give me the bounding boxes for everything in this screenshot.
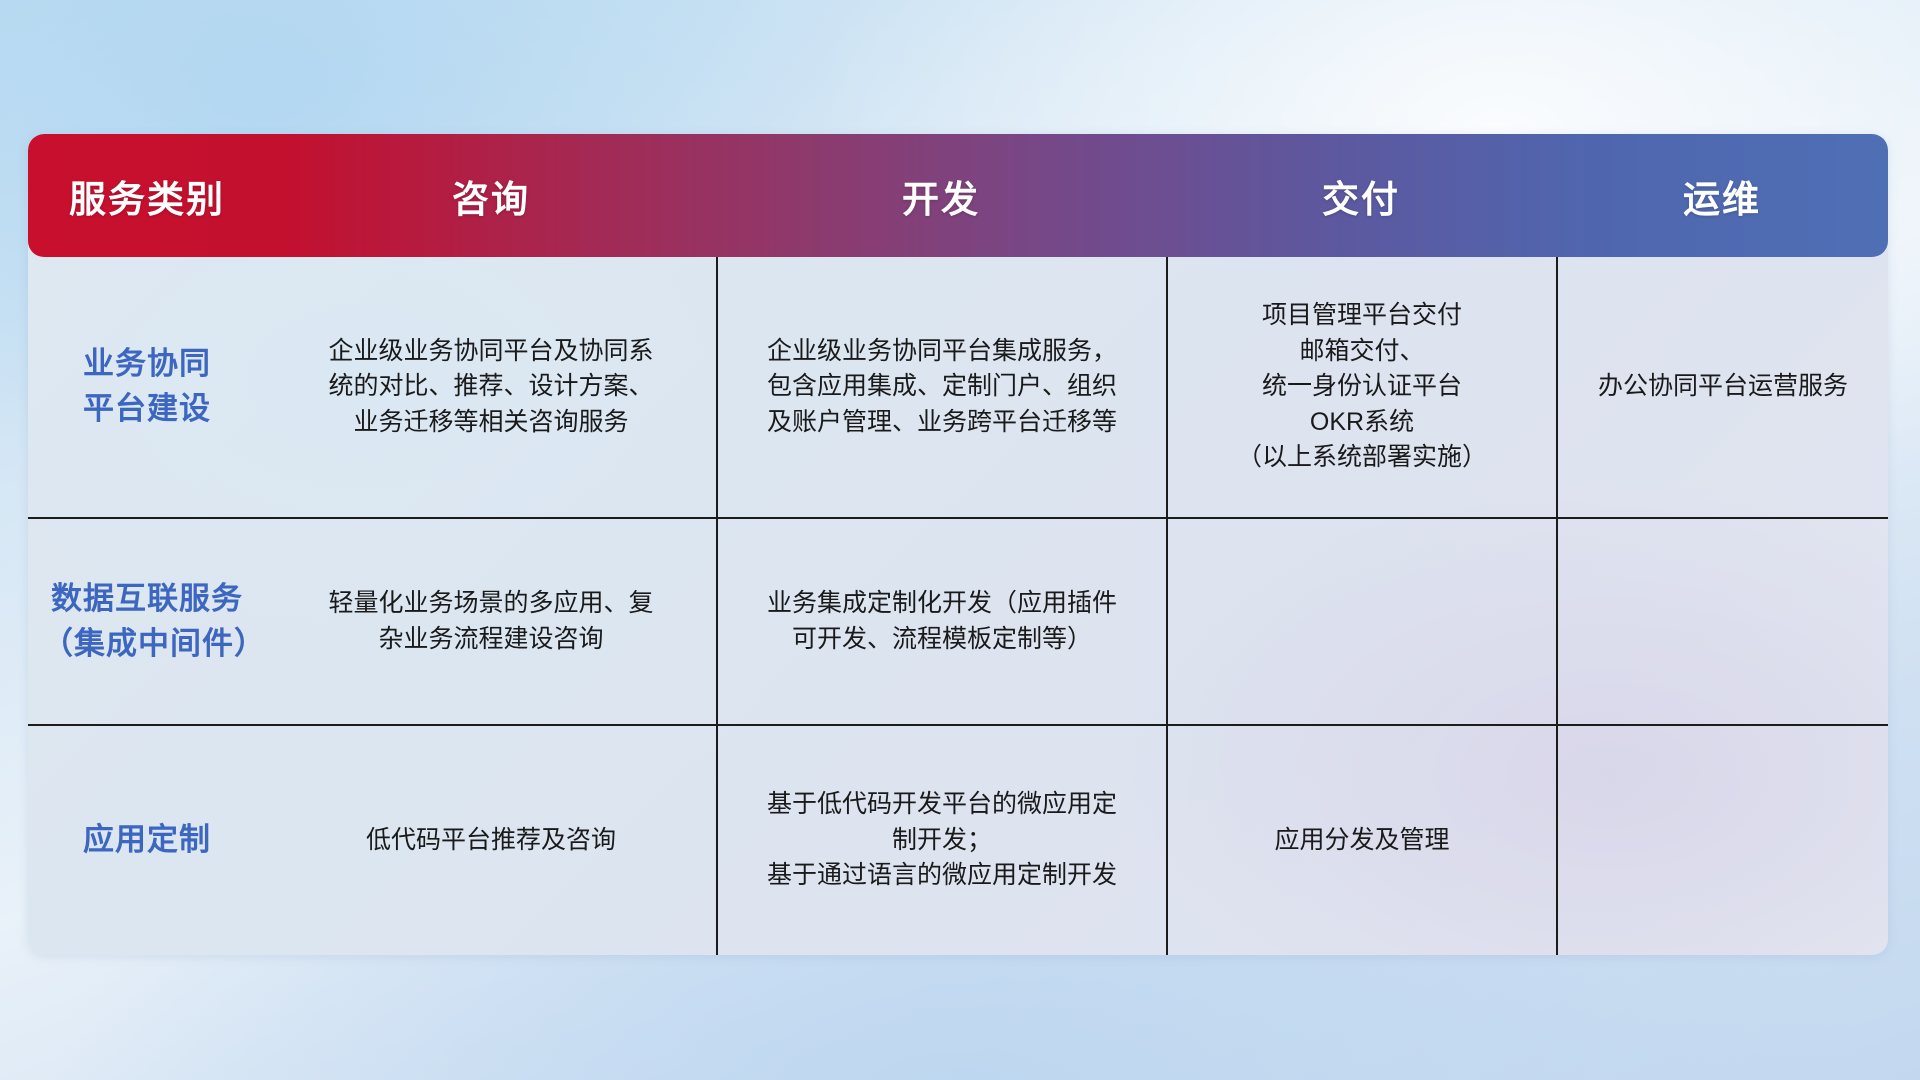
cell-operations xyxy=(1556,724,1888,955)
table-body: 业务协同 平台建设 企业级业务协同平台及协同系 统的对比、推荐、设计方案、 业务… xyxy=(28,257,1888,955)
column-header-delivery: 交付 xyxy=(1166,169,1556,223)
cell-operations xyxy=(1556,517,1888,724)
cell-delivery: 应用分发及管理 xyxy=(1166,724,1556,955)
column-header-service-category: 服务类别 xyxy=(28,169,266,223)
table-row: 数据互联服务 （集成中间件） 轻量化业务场景的多应用、复 杂业务流程建设咨询 业… xyxy=(28,517,1888,724)
cell-delivery xyxy=(1166,517,1556,724)
table-row: 业务协同 平台建设 企业级业务协同平台及协同系 统的对比、推荐、设计方案、 业务… xyxy=(28,257,1888,517)
cell-operations: 办公协同平台运营服务 xyxy=(1556,257,1888,517)
row-category-label: 业务协同 平台建设 xyxy=(28,257,266,517)
column-header-operations: 运维 xyxy=(1556,169,1888,223)
cell-delivery: 项目管理平台交付 邮箱交付、 统一身份认证平台 OKR系统 （以上系统部署实施） xyxy=(1166,257,1556,517)
cell-consulting: 轻量化业务场景的多应用、复 杂业务流程建设咨询 xyxy=(266,517,716,724)
cell-development: 基于低代码开发平台的微应用定 制开发； 基于通过语言的微应用定制开发 xyxy=(716,724,1166,955)
cell-consulting: 企业级业务协同平台及协同系 统的对比、推荐、设计方案、 业务迁移等相关咨询服务 xyxy=(266,257,716,517)
row-category-label: 数据互联服务 （集成中间件） xyxy=(28,517,266,724)
cell-consulting: 低代码平台推荐及咨询 xyxy=(266,724,716,955)
table-header-row: 服务类别 咨询 开发 交付 运维 xyxy=(28,134,1888,257)
cell-development: 企业级业务协同平台集成服务， 包含应用集成、定制门户、组织 及账户管理、业务跨平… xyxy=(716,257,1166,517)
service-matrix-panel: 服务类别 咨询 开发 交付 运维 业务协同 平台建设 企业级业务协同平台及协同系… xyxy=(28,134,1888,955)
row-category-label: 应用定制 xyxy=(28,724,266,955)
column-header-consulting: 咨询 xyxy=(266,169,716,223)
column-header-development: 开发 xyxy=(716,169,1166,223)
cell-development: 业务集成定制化开发（应用插件 可开发、流程模板定制等） xyxy=(716,517,1166,724)
table-row: 应用定制 低代码平台推荐及咨询 基于低代码开发平台的微应用定 制开发； 基于通过… xyxy=(28,724,1888,955)
